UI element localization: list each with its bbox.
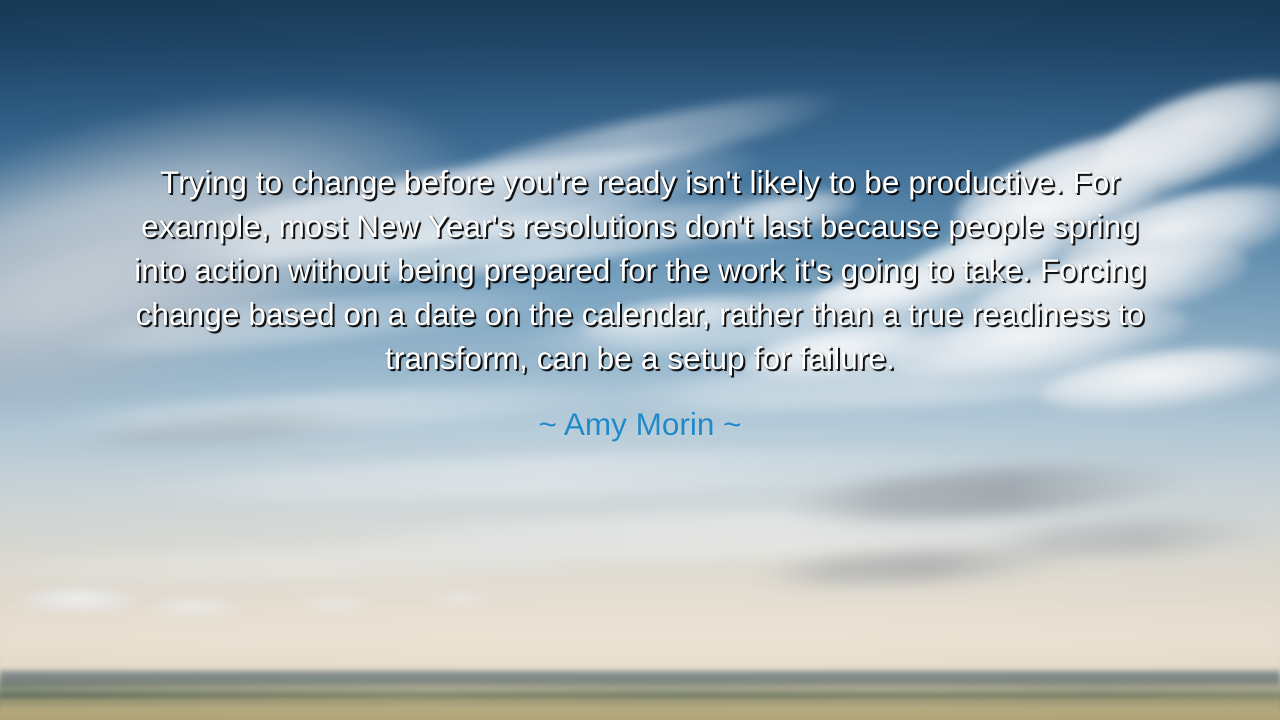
quote-text-group: Trying to change before you're ready isn… [120, 160, 1160, 444]
quote-body-text: Trying to change before you're ready isn… [120, 160, 1160, 380]
quote-overlay: Trying to change before you're ready isn… [0, 0, 1280, 720]
quote-block: Trying to change before you're ready isn… [120, 160, 1160, 380]
quote-attribution: ~ Amy Morin ~ [538, 404, 741, 444]
quote-card: Trying to change before you're ready isn… [0, 0, 1280, 720]
